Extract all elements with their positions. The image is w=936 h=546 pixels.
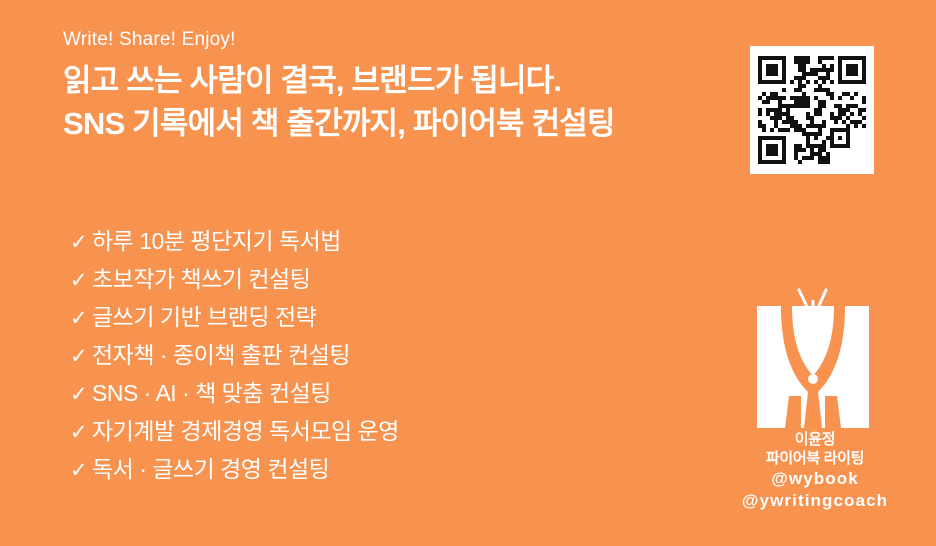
headline-line-2: SNS 기록에서 책 출간까지, 파이어북 컨설팅 bbox=[63, 103, 743, 146]
feature-text: 하루 10분 평단지기 독서법 bbox=[92, 230, 341, 253]
check-icon: ✓ bbox=[70, 422, 92, 443]
list-item: ✓ 초보작가 책쓰기 컨설팅 bbox=[70, 268, 690, 306]
brand-logo bbox=[752, 288, 874, 428]
qr-code[interactable] bbox=[750, 46, 874, 174]
qr-code-icon[interactable] bbox=[758, 56, 866, 164]
header-block: Write! Share! Enjoy! 읽고 쓰는 사람이 결국, 브랜드가 … bbox=[63, 30, 743, 145]
promo-card: Write! Share! Enjoy! 읽고 쓰는 사람이 결국, 브랜드가 … bbox=[0, 0, 936, 546]
tagline: Write! Share! Enjoy! bbox=[63, 30, 743, 51]
check-icon: ✓ bbox=[70, 270, 92, 291]
feature-text: SNS · AI · 책 맞춤 컨설팅 bbox=[92, 382, 331, 405]
list-item: ✓ 자기계발 경제경영 독서모임 운영 bbox=[70, 420, 690, 458]
feature-text: 전자책 · 종이책 출판 컨설팅 bbox=[92, 344, 350, 367]
company-name: 파이어북 라이팅 bbox=[710, 449, 920, 468]
handle-primary[interactable]: @wybook bbox=[710, 468, 920, 490]
feature-list: ✓ 하루 10분 평단지기 독서법 ✓ 초보작가 책쓰기 컨설팅 ✓ 글쓰기 기… bbox=[70, 230, 690, 496]
handle-secondary[interactable]: @ywritingcoach bbox=[710, 490, 920, 512]
brand-signature: 이윤정 파이어북 라이팅 @wybook @ywritingcoach bbox=[710, 430, 920, 512]
feature-text: 초보작가 책쓰기 컨설팅 bbox=[92, 268, 310, 291]
feature-text: 글쓰기 기반 브랜딩 전략 bbox=[92, 306, 316, 329]
list-item: ✓ 전자책 · 종이책 출판 컨설팅 bbox=[70, 344, 690, 382]
check-icon: ✓ bbox=[70, 384, 92, 405]
feature-text: 자기계발 경제경영 독서모임 운영 bbox=[92, 420, 399, 443]
list-item: ✓ SNS · AI · 책 맞춤 컨설팅 bbox=[70, 382, 690, 420]
check-icon: ✓ bbox=[70, 460, 92, 481]
check-icon: ✓ bbox=[70, 232, 92, 253]
check-icon: ✓ bbox=[70, 308, 92, 329]
list-item: ✓ 독서 · 글쓰기 경영 컨설팅 bbox=[70, 458, 690, 496]
author-name: 이윤정 bbox=[710, 430, 920, 449]
check-icon: ✓ bbox=[70, 346, 92, 367]
feature-text: 독서 · 글쓰기 경영 컨설팅 bbox=[92, 458, 329, 481]
list-item: ✓ 하루 10분 평단지기 독서법 bbox=[70, 230, 690, 268]
headline-line-1: 읽고 쓰는 사람이 결국, 브랜드가 됩니다. bbox=[63, 60, 743, 103]
pen-nib-logo-icon bbox=[752, 288, 874, 428]
list-item: ✓ 글쓰기 기반 브랜딩 전략 bbox=[70, 306, 690, 344]
